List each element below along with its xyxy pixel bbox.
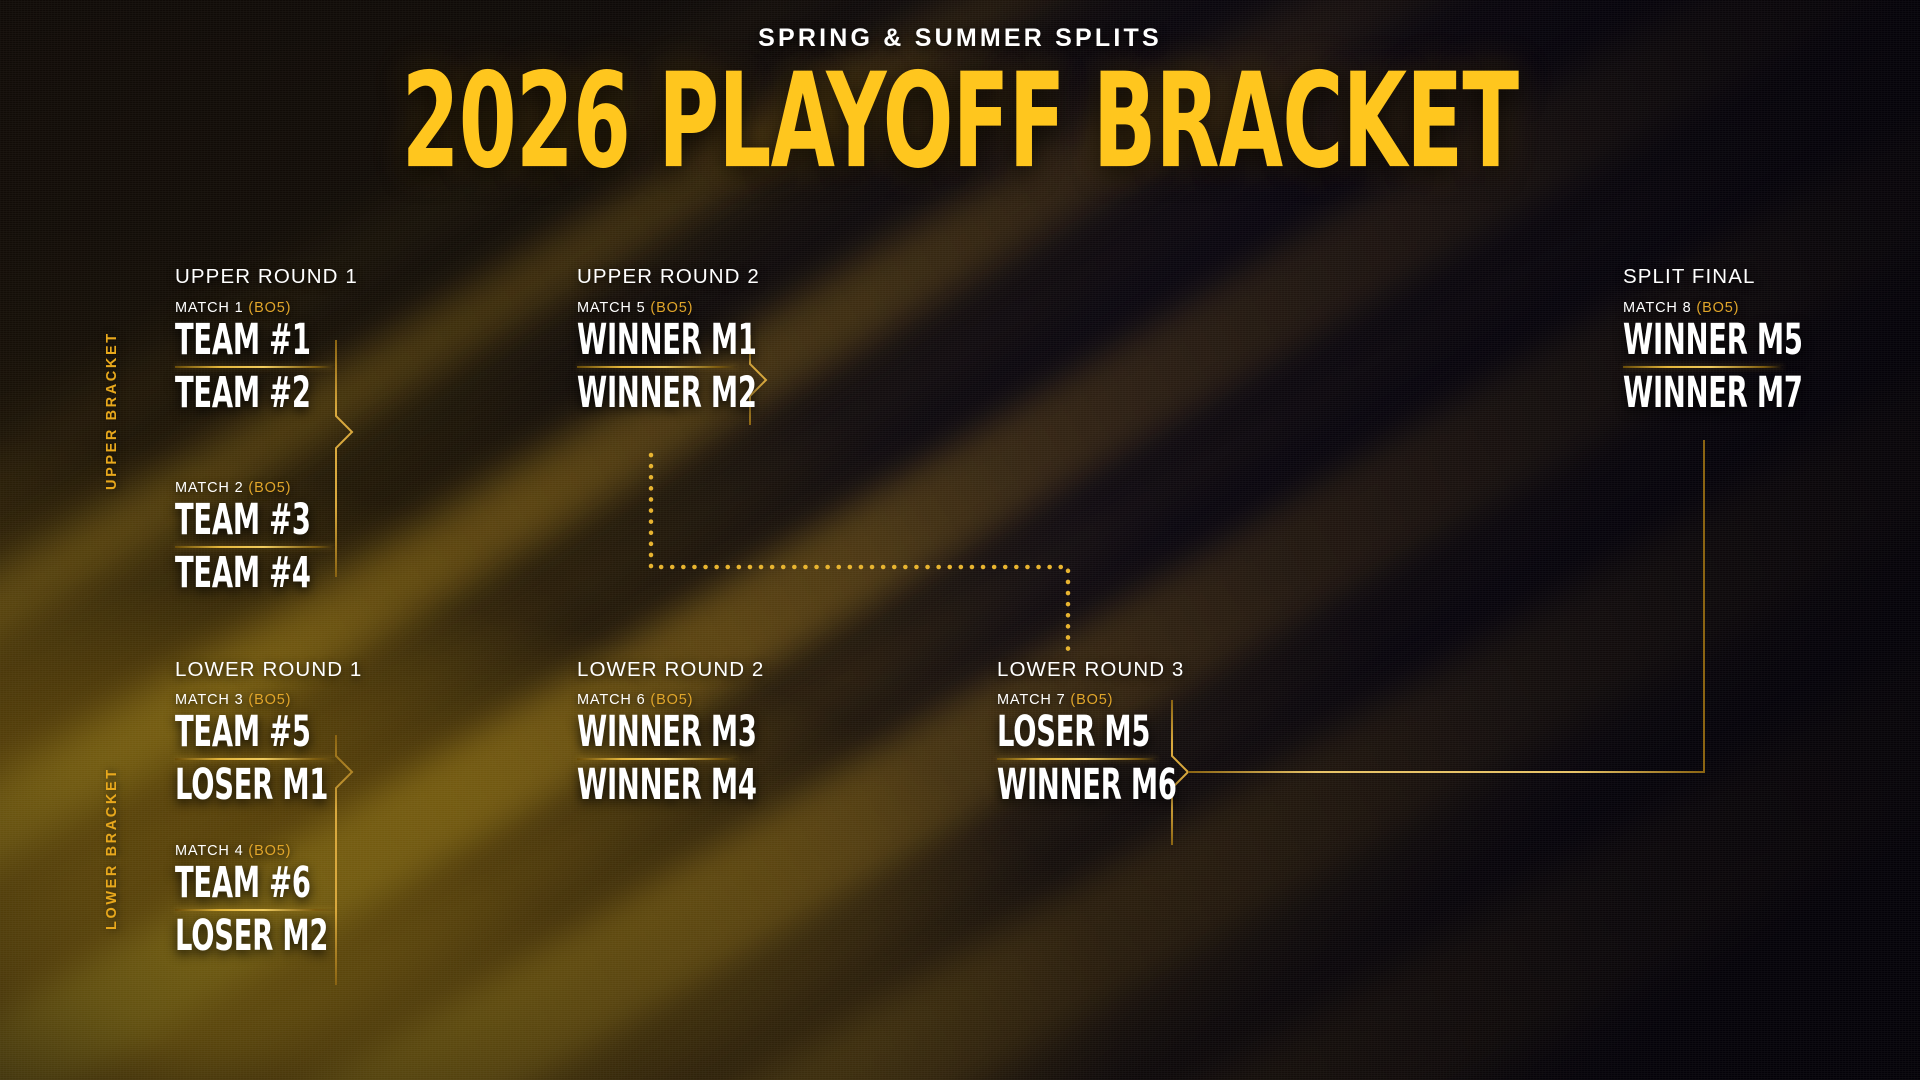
match-card-m8[interactable]: MATCH 8 (BO5) WINNER M5 WINNER M7 <box>1623 300 1920 416</box>
match-format-m6: (BO5) <box>650 692 693 708</box>
match-name-m7: MATCH 7 <box>997 692 1066 708</box>
match-slot-m8-top[interactable]: WINNER M5 <box>1623 315 1851 367</box>
match-label-m8: MATCH 8 (BO5) <box>1623 300 1920 316</box>
match-format-m2: (BO5) <box>248 480 291 496</box>
match-slot-m6-top[interactable]: WINNER M3 <box>577 707 805 759</box>
match-name-m8: MATCH 8 <box>1623 300 1692 316</box>
match-card-m6[interactable]: MATCH 6 (BO5) WINNER M3 WINNER M4 <box>577 692 877 808</box>
match-slot-m4-bottom[interactable]: LOSER M2 <box>175 911 403 963</box>
match-slot-m2-bottom[interactable]: TEAM #4 <box>175 548 403 600</box>
match-slot-m4-top[interactable]: TEAM #6 <box>175 858 403 910</box>
match-label-m2: MATCH 2 (BO5) <box>175 480 475 496</box>
match-card-m1[interactable]: MATCH 1 (BO5) TEAM #1 TEAM #2 <box>175 300 475 416</box>
round-title-lower-round-3: LOWER ROUND 3 <box>997 658 1184 682</box>
match-format-m7: (BO5) <box>1070 692 1113 708</box>
match-name-m3: MATCH 3 <box>175 692 244 708</box>
match-card-m4[interactable]: MATCH 4 (BO5) TEAM #6 LOSER M2 <box>175 843 475 959</box>
match-card-m7[interactable]: MATCH 7 (BO5) LOSER M5 WINNER M6 <box>997 692 1297 808</box>
match-slot-m2-top[interactable]: TEAM #3 <box>175 495 403 547</box>
round-title-upper-round-2: UPPER ROUND 2 <box>577 265 760 289</box>
match-slot-m8-bottom[interactable]: WINNER M7 <box>1623 368 1851 420</box>
page-title: 2026 PLAYOFF BRACKET <box>192 59 1728 185</box>
round-title-lower-round-1: LOWER ROUND 1 <box>175 658 362 682</box>
match-label-m1: MATCH 1 (BO5) <box>175 300 475 316</box>
match-label-m4: MATCH 4 (BO5) <box>175 843 475 859</box>
round-title-lower-round-2: LOWER ROUND 2 <box>577 658 764 682</box>
match-slot-m7-top[interactable]: LOSER M5 <box>997 707 1225 759</box>
match-label-m6: MATCH 6 (BO5) <box>577 692 877 708</box>
match-slot-m6-bottom[interactable]: WINNER M4 <box>577 760 805 812</box>
match-format-m8: (BO5) <box>1696 300 1739 316</box>
side-label-upper-bracket: UPPER BRACKET <box>104 300 120 490</box>
match-slot-m5-bottom[interactable]: WINNER M2 <box>577 368 805 420</box>
match-slot-m3-bottom[interactable]: LOSER M1 <box>175 760 403 812</box>
match-slot-m1-top[interactable]: TEAM #1 <box>175 315 403 367</box>
match-name-m6: MATCH 6 <box>577 692 646 708</box>
match-slot-m7-bottom[interactable]: WINNER M6 <box>997 760 1225 812</box>
round-title-split-final: SPLIT FINAL <box>1623 265 1756 289</box>
match-slot-m3-top[interactable]: TEAM #5 <box>175 707 403 759</box>
match-label-m5: MATCH 5 (BO5) <box>577 300 877 316</box>
match-format-m5: (BO5) <box>650 300 693 316</box>
match-name-m4: MATCH 4 <box>175 843 244 859</box>
match-name-m2: MATCH 2 <box>175 480 244 496</box>
match-slot-m1-bottom[interactable]: TEAM #2 <box>175 368 403 420</box>
match-format-m1: (BO5) <box>248 300 291 316</box>
match-card-m5[interactable]: MATCH 5 (BO5) WINNER M1 WINNER M2 <box>577 300 877 416</box>
match-name-m1: MATCH 1 <box>175 300 244 316</box>
round-title-upper-round-1: UPPER ROUND 1 <box>175 265 358 289</box>
match-slot-m5-top[interactable]: WINNER M1 <box>577 315 805 367</box>
match-name-m5: MATCH 5 <box>577 300 646 316</box>
poster-header: SPRING & SUMMER SPLITS 2026 PLAYOFF BRAC… <box>0 24 1920 159</box>
side-label-lower-bracket: LOWER BRACKET <box>104 740 120 930</box>
match-format-m4: (BO5) <box>248 843 291 859</box>
match-label-m7: MATCH 7 (BO5) <box>997 692 1297 708</box>
match-label-m3: MATCH 3 (BO5) <box>175 692 475 708</box>
match-card-m2[interactable]: MATCH 2 (BO5) TEAM #3 TEAM #4 <box>175 480 475 596</box>
match-card-m3[interactable]: MATCH 3 (BO5) TEAM #5 LOSER M1 <box>175 692 475 808</box>
match-format-m3: (BO5) <box>248 692 291 708</box>
playoff-bracket-poster: SPRING & SUMMER SPLITS 2026 PLAYOFF BRAC… <box>0 0 1920 1080</box>
